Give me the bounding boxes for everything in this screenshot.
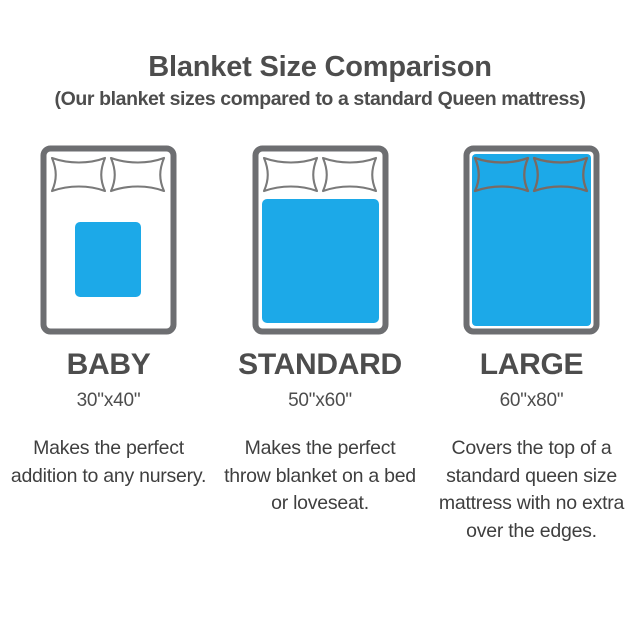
header: Blanket Size Comparison (Our blanket siz… xyxy=(0,52,640,110)
blanket-shape-standard xyxy=(262,199,379,323)
pillow-left-icon xyxy=(52,158,105,191)
pillow-left-icon xyxy=(264,158,317,191)
blanket-shape-baby xyxy=(75,222,141,297)
pillow-right-icon xyxy=(111,158,164,191)
size-dimensions-standard: 50"x60" xyxy=(288,391,352,410)
queen-mattress-icon-large xyxy=(462,144,601,336)
size-dimensions-large: 60"x80" xyxy=(500,391,564,410)
blanket-size-comparison-infographic: Blanket Size Comparison (Our blanket siz… xyxy=(0,0,640,640)
size-description-baby: Makes the perfect addition to any nurser… xyxy=(11,435,207,490)
size-description-large: Covers the top of a standard queen size … xyxy=(434,435,630,546)
size-description-standard: Makes the perfect throw blanket on a bed… xyxy=(222,435,418,518)
size-name-large: LARGE xyxy=(480,350,584,380)
size-name-baby: BABY xyxy=(67,350,151,380)
page-subtitle: (Our blanket sizes compared to a standar… xyxy=(0,89,640,109)
size-column-large: LARGE 60"x80" Covers the top of a standa… xyxy=(429,144,634,546)
size-name-standard: STANDARD xyxy=(238,350,402,380)
bed-diagram-large xyxy=(429,144,634,344)
size-dimensions-baby: 30"x40" xyxy=(77,391,141,410)
size-columns: BABY 30"x40" Makes the perfect addition … xyxy=(0,144,640,546)
size-column-baby: BABY 30"x40" Makes the perfect addition … xyxy=(6,144,211,490)
size-column-standard: STANDARD 50"x60" Makes the perfect throw… xyxy=(218,144,423,518)
bed-diagram-standard xyxy=(218,144,423,344)
queen-mattress-icon-baby xyxy=(39,144,178,336)
blanket-shape-large xyxy=(472,154,591,326)
bed-diagram-baby xyxy=(6,144,211,344)
page-title: Blanket Size Comparison xyxy=(0,52,640,82)
queen-mattress-icon-standard xyxy=(251,144,390,336)
pillow-right-icon xyxy=(323,158,376,191)
